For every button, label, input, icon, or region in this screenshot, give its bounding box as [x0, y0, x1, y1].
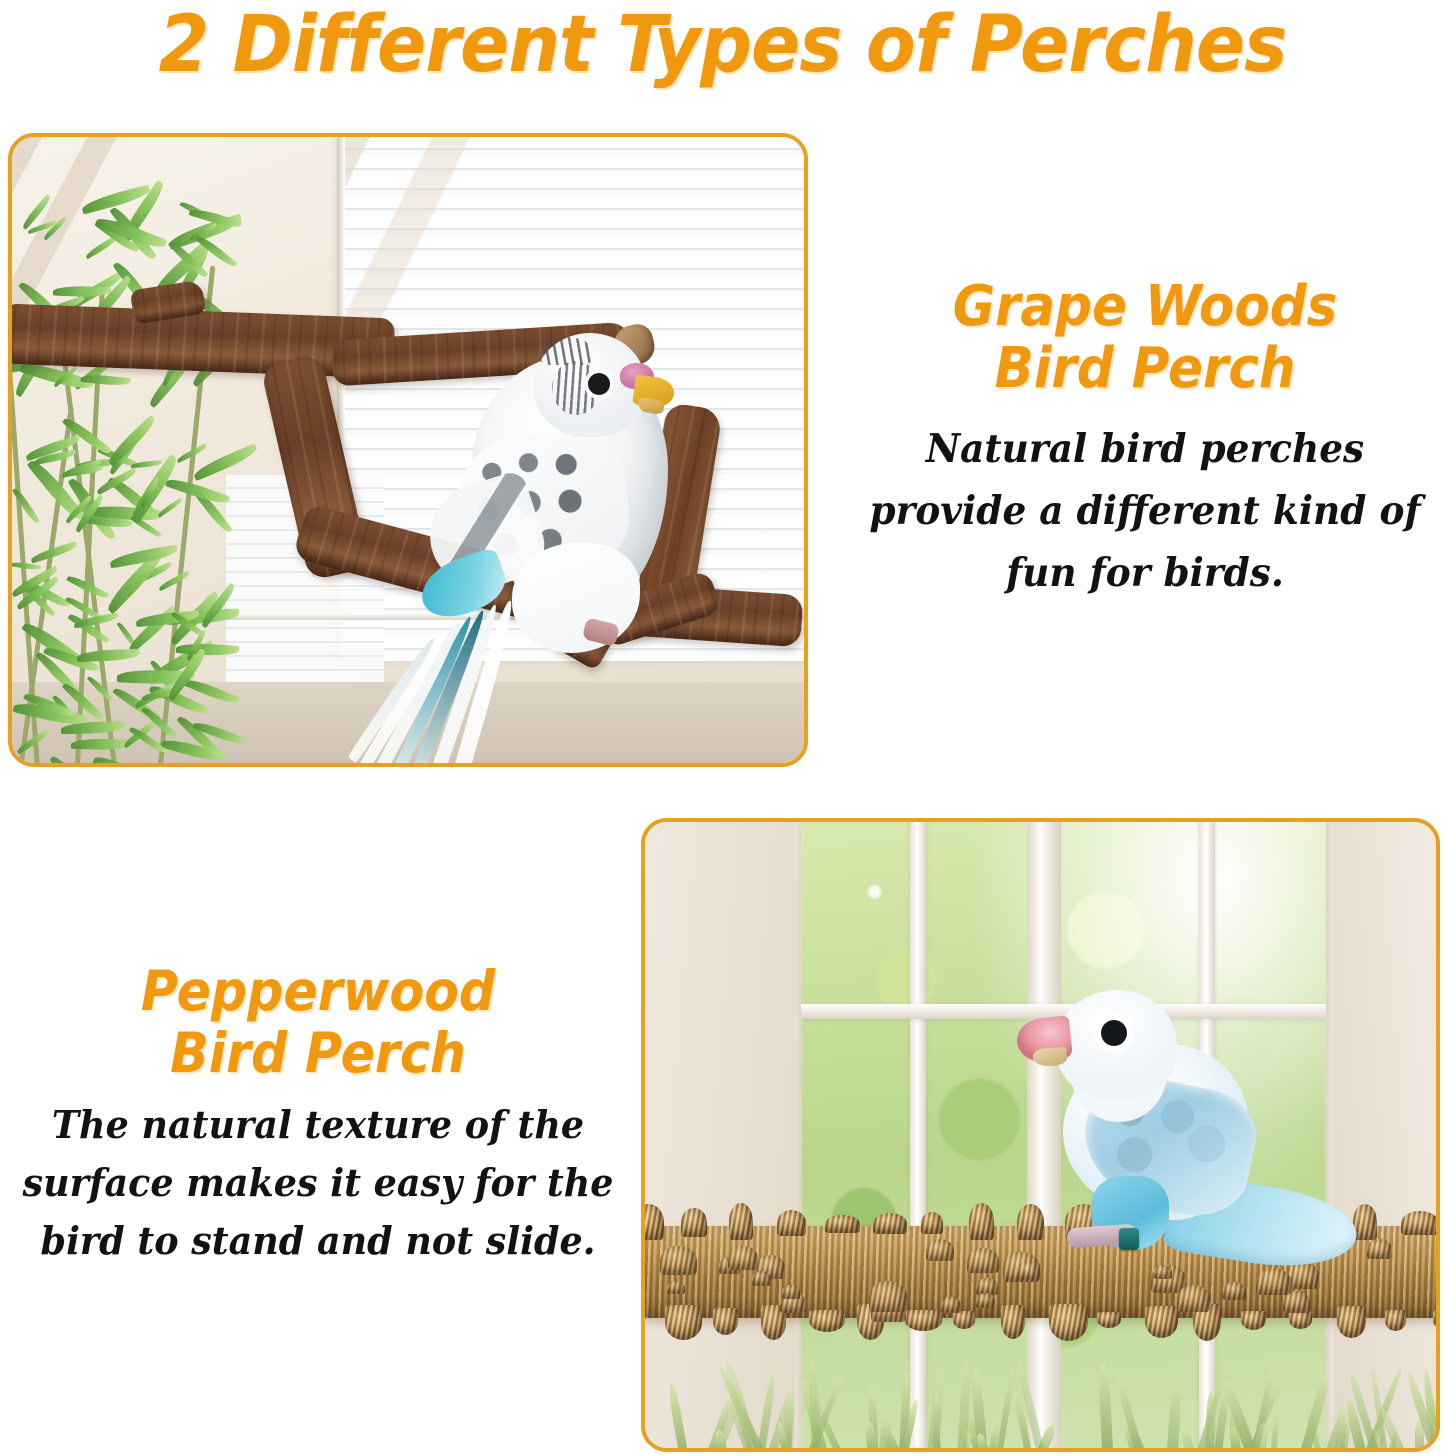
- budgie-belly: [512, 543, 640, 653]
- description-grape-woods: Natural bird perches provide a different…: [867, 418, 1424, 604]
- description-pepperwood: The natural texture of the surface makes…: [20, 1096, 615, 1270]
- photo-pepperwood-scene: [645, 822, 1436, 1448]
- grass-foreground: [645, 1354, 1436, 1448]
- heading-grape-woods: Grape Woods Bird Perch: [878, 276, 1412, 400]
- budgie-crown-markings: [540, 337, 592, 365]
- lovebird-eye: [1101, 1020, 1127, 1046]
- lovebird-bird: [997, 990, 1297, 1320]
- page-title: 2 Different Types of Perches: [51, 2, 1395, 88]
- heading-pepperwood-line1: Pepperwood: [33, 960, 603, 1022]
- budgie-eye: [588, 373, 610, 395]
- photo-grape-woods-scene: [12, 137, 804, 763]
- budgie-bird: [416, 333, 746, 763]
- heading-grape-woods-line2: Bird Perch: [878, 338, 1412, 400]
- text-block-grape-woods: Grape Woods Bird Perch Natural bird perc…: [855, 276, 1435, 604]
- heading-pepperwood-line2: Bird Perch: [33, 1022, 603, 1084]
- lovebird-leg-band: [1119, 1228, 1139, 1250]
- heading-grape-woods-line1: Grape Woods: [878, 276, 1412, 338]
- product-photo-pepperwood: [641, 818, 1440, 1452]
- heading-pepperwood: Pepperwood Bird Perch: [33, 960, 603, 1084]
- product-photo-grape-woods: [8, 133, 808, 767]
- text-block-pepperwood: Pepperwood Bird Perch The natural textur…: [8, 960, 628, 1270]
